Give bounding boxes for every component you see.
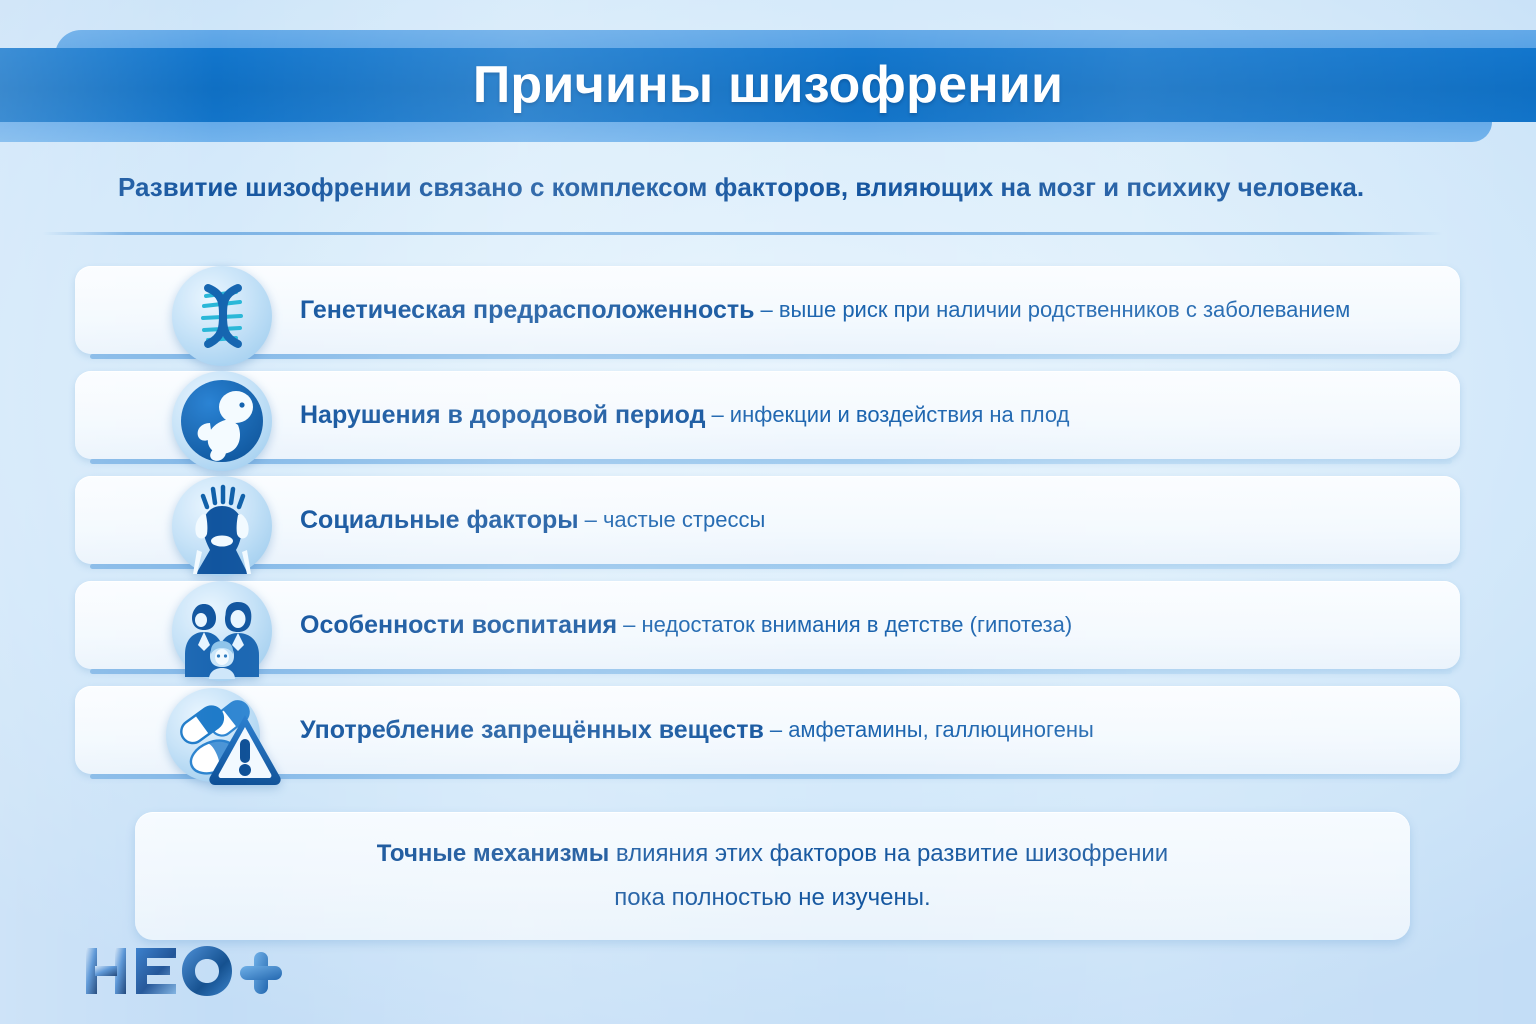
page-title: Причины шизофрении — [0, 48, 1536, 122]
list-item: Употребление запрещённых веществ – амфет… — [0, 682, 1536, 787]
row-title: Социальные факторы — [300, 506, 579, 535]
subtitle-text: Развитие шизофрении связано с комплексом… — [118, 172, 1418, 203]
list-item: Нарушения в дородовой период – инфекции … — [0, 367, 1536, 472]
row-text: Употребление запрещённых веществ – амфет… — [300, 682, 1094, 778]
subtitle-divider — [42, 232, 1442, 235]
row-desc: – инфекции и воздействия на плод — [711, 402, 1069, 428]
row-desc: – выше риск при наличии родственников с … — [760, 297, 1350, 323]
conclusion-line-1: Точные механизмы влияния этих факторов н… — [377, 840, 1168, 868]
row-title: Особенности воспитания — [300, 611, 617, 640]
brand-logo — [84, 944, 284, 1002]
row-underline — [90, 564, 1452, 569]
row-desc: – недостаток внимания в детстве (гипотез… — [623, 612, 1072, 638]
list-item: Генетическая предрасположенность – выше … — [0, 262, 1536, 367]
list-item: Особенности воспитания – недостаток вним… — [0, 577, 1536, 682]
row-text: Нарушения в дородовой период – инфекции … — [300, 367, 1069, 463]
row-title: Нарушения в дородовой период — [300, 401, 705, 430]
infographic-root: Причины шизофрении Развитие шизофрении с… — [0, 0, 1536, 1024]
conclusion-line-1-bold: Точные механизмы — [377, 840, 609, 867]
row-desc: – частые стрессы — [585, 507, 766, 533]
conclusion-line-1-rest: влияния этих факторов на развитие шизофр… — [616, 840, 1168, 867]
row-text: Особенности воспитания – недостаток вним… — [300, 577, 1072, 673]
list-item: Социальные факторы – частые стрессы — [0, 472, 1536, 577]
row-text: Генетическая предрасположенность – выше … — [300, 262, 1350, 358]
row-title: Употребление запрещённых веществ — [300, 716, 764, 745]
pills-warning-icon — [160, 674, 284, 798]
row-text: Социальные факторы – частые стрессы — [300, 472, 765, 568]
row-title: Генетическая предрасположенность — [300, 296, 754, 325]
header-accent-underbar — [0, 122, 1492, 142]
conclusion-box: Точные механизмы влияния этих факторов н… — [135, 812, 1410, 940]
conclusion-line-2: пока полностью не изучены. — [614, 884, 930, 912]
factor-list: Генетическая предрасположенность – выше … — [0, 262, 1536, 787]
row-desc: – амфетамины, галлюциногены — [770, 717, 1094, 743]
